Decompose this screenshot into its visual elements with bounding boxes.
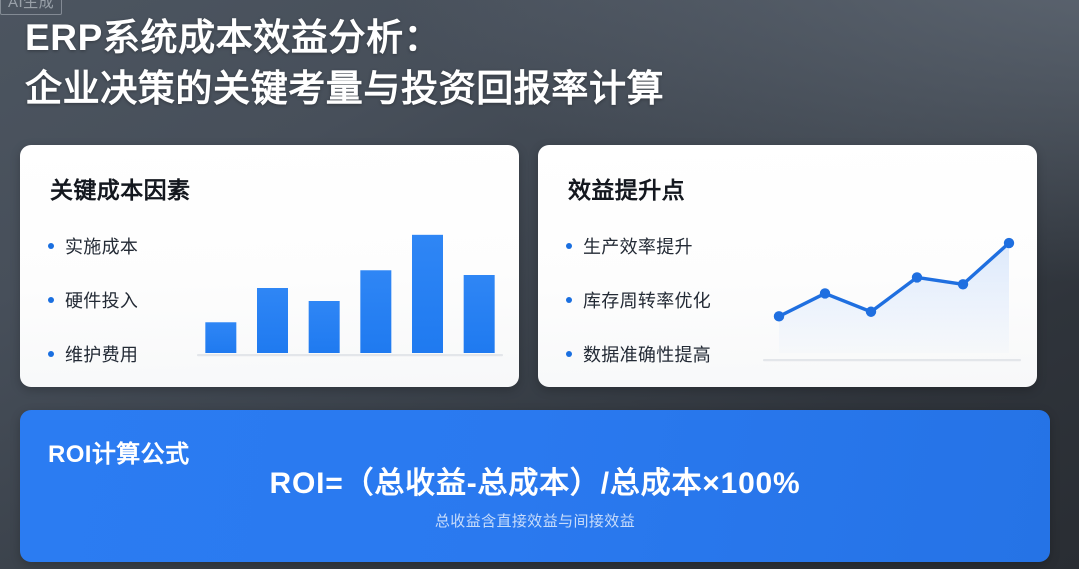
line-chart-axis-line xyxy=(763,359,1021,361)
bar-6 xyxy=(464,275,495,353)
bullet-dot-icon xyxy=(48,243,54,249)
list-item: 库存周转率优化 xyxy=(566,273,711,327)
line-chart-point-1 xyxy=(820,288,830,298)
line-chart-point-3 xyxy=(912,272,922,282)
benefit-bullet-list: 生产效率提升 库存周转率优化 数据准确性提高 xyxy=(566,219,711,381)
bar-4 xyxy=(360,270,391,353)
roi-formula-banner: ROI计算公式 ROI=（总收益-总成本）/总成本×100% 总收益含直接效益与… xyxy=(20,410,1050,562)
cost-bullet-label-3: 维护费用 xyxy=(65,341,138,367)
list-item: 维护费用 xyxy=(48,327,138,381)
cost-bullet-label-1: 实施成本 xyxy=(65,233,138,259)
line-chart-point-5 xyxy=(1004,238,1014,248)
bullet-dot-icon xyxy=(566,243,572,249)
page-title: ERP系统成本效益分析： 企业决策的关键考量与投资回报率计算 xyxy=(25,12,1025,114)
bullet-dot-icon xyxy=(566,297,572,303)
roi-formula-text: ROI=（总收益-总成本）/总成本×100% xyxy=(20,458,1050,502)
bar-5 xyxy=(412,235,443,353)
line-chart-point-2 xyxy=(866,307,876,317)
bullet-dot-icon xyxy=(566,351,572,357)
bar-3 xyxy=(309,301,340,353)
list-item: 生产效率提升 xyxy=(566,219,711,273)
cost-bullet-list: 实施成本 硬件投入 维护费用 xyxy=(48,219,138,381)
benefit-line-chart xyxy=(761,217,1023,369)
watermark-label: AI生成 xyxy=(8,0,54,11)
cost-bar-chart xyxy=(195,217,505,369)
benefit-bullet-label-1: 生产效率提升 xyxy=(583,233,693,259)
list-item: 实施成本 xyxy=(48,219,138,273)
benefit-bullet-label-3: 数据准确性提高 xyxy=(583,341,711,367)
page-title-line-2: 企业决策的关键考量与投资回报率计算 xyxy=(25,63,1025,114)
roi-formula-note: 总收益含直接效益与间接效益 xyxy=(20,510,1050,531)
benefit-line-chart-svg xyxy=(761,217,1023,369)
benefit-bullet-label-2: 库存周转率优化 xyxy=(583,287,711,313)
bullet-dot-icon xyxy=(48,351,54,357)
slide-canvas: AI生成 ERP系统成本效益分析： 企业决策的关键考量与投资回报率计算 关键成本… xyxy=(0,0,1079,569)
list-item: 数据准确性提高 xyxy=(566,327,711,381)
bar-2 xyxy=(257,288,288,353)
card-cost-heading: 关键成本因素 xyxy=(50,171,190,205)
line-chart-point-4 xyxy=(958,279,968,289)
line-chart-point-0 xyxy=(774,311,784,321)
bullet-dot-icon xyxy=(48,297,54,303)
bar-1 xyxy=(205,322,236,353)
card-benefit-heading: 效益提升点 xyxy=(568,171,685,205)
cost-bullet-label-2: 硬件投入 xyxy=(65,287,138,313)
cost-bar-chart-svg xyxy=(195,217,505,369)
card-benefit-points: 效益提升点 生产效率提升 库存周转率优化 数据准确性提高 xyxy=(538,145,1037,387)
page-title-line-1: ERP系统成本效益分析： xyxy=(25,12,1025,63)
bar-chart-axis-line xyxy=(197,354,503,356)
card-key-cost-factors: 关键成本因素 实施成本 硬件投入 维护费用 xyxy=(20,145,519,387)
list-item: 硬件投入 xyxy=(48,273,138,327)
